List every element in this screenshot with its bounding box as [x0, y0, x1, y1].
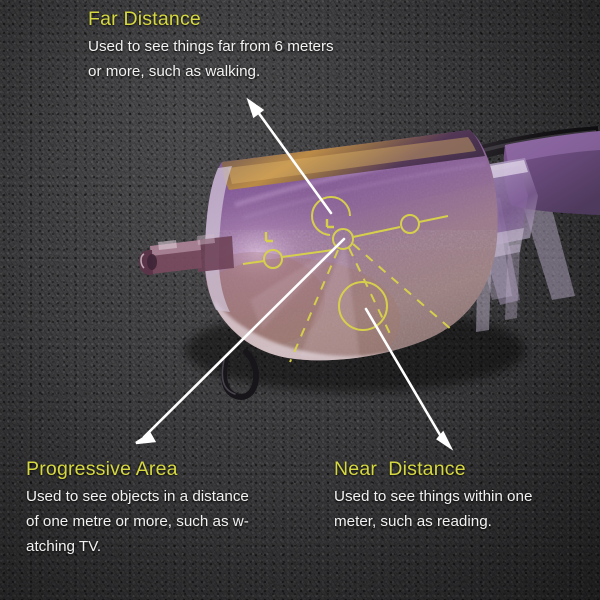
far-distance-heading: Far Distance — [88, 8, 334, 31]
near-distance-heading: Near Distance — [334, 458, 532, 481]
near-distance-line-2: meter, such as reading. — [334, 509, 532, 534]
far-distance-line-2: or more, such as walking. — [88, 59, 334, 84]
near-distance-annotation: Near Distance Used to see things within … — [334, 458, 532, 534]
progressive-area-annotation: Progressive Area Used to see objects in … — [26, 458, 249, 559]
left-hinge-assembly — [139, 234, 234, 275]
screenshot-root: Far Distance Used to see things far from… — [0, 0, 600, 600]
far-distance-annotation: Far Distance Used to see things far from… — [88, 8, 334, 84]
progressive-area-line-3: atching TV. — [26, 534, 249, 559]
progressive-area-line-2: of one metre or more, such as w- — [26, 509, 249, 534]
far-distance-line-1: Used to see things far from 6 meters — [88, 34, 334, 59]
progressive-area-heading: Progressive Area — [26, 458, 249, 481]
near-distance-line-1: Used to see things within one — [334, 484, 532, 509]
progressive-area-line-1: Used to see objects in a distance — [26, 484, 249, 509]
